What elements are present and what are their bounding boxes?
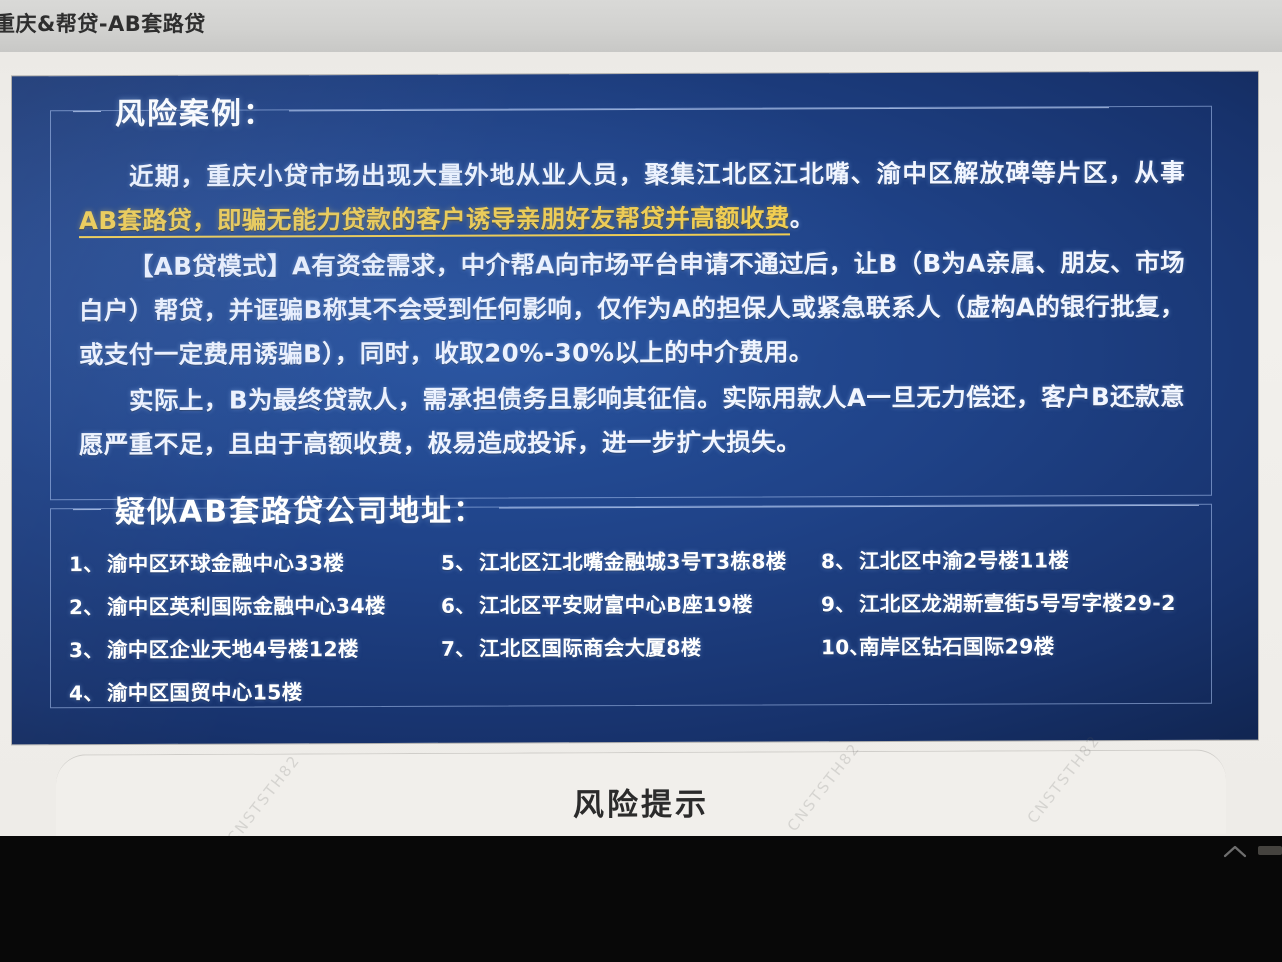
- list-item: 2、 渝中区英利国际金融中心34楼: [69, 589, 441, 620]
- list-item-label: 江北区中渝2号楼11楼: [859, 543, 1069, 574]
- paragraph-1-highlight: AB套路贷，即骗无能力贷款的客户诱导亲朋好友帮贷并高额收费: [79, 203, 790, 238]
- list-item: 3、 渝中区企业天地4号楼12楼: [69, 632, 441, 663]
- chevron-up-icon[interactable]: [1222, 842, 1248, 862]
- address-column-1: 1、 渝中区环球金融中心33楼 2、 渝中区英利国际金融中心34楼 3、 渝中区…: [69, 546, 441, 706]
- list-item: 4、 渝中区国贸中心15楼: [69, 675, 441, 706]
- app-chrome-bar: 重庆&帮贷-AB套路贷: [0, 0, 1282, 52]
- paragraph-1: 近期，重庆小贷市场出现大量外地从业人员，聚集江北区江北嘴、渝中区解放碑等片区，从…: [79, 151, 1185, 243]
- presentation-slide: 风险案例： 近期，重庆小贷市场出现大量外地从业人员，聚集江北区江北嘴、渝中区解放…: [12, 72, 1258, 745]
- heading-rule-left: [73, 111, 101, 112]
- list-item-number: 10、: [821, 631, 859, 660]
- list-item-number: 7、: [441, 633, 479, 662]
- risk-case-heading: 风险案例：: [73, 85, 1109, 133]
- list-item-label: 江北区江北嘴金融城3号T3栋8楼: [479, 544, 787, 575]
- list-item-number: 8、: [821, 545, 859, 574]
- list-item-label: 江北区国际商会大厦8楼: [479, 631, 702, 662]
- photographed-screen-frame: 重庆&帮贷-AB套路贷 风险案例： 近期，重庆小贷市场出现大量外地从业人员，聚集…: [0, 0, 1282, 962]
- heading-rule-right: [499, 504, 1199, 508]
- list-item: 7、 江北区国际商会大厦8楼: [441, 630, 821, 661]
- list-item-label: 渝中区企业天地4号楼12楼: [107, 632, 359, 663]
- addresses-heading: 疑似AB套路贷公司地址：: [73, 483, 1199, 531]
- address-column-3: 8、 江北区中渝2号楼11楼 9、 江北区龙湖新壹街5号写字楼29-2 10、 …: [821, 543, 1195, 703]
- list-item-number: 9、: [821, 588, 859, 617]
- window-title: 重庆&帮贷-AB套路贷: [0, 8, 206, 38]
- bezel-indicator-light: [1258, 846, 1282, 855]
- list-item-label: 渝中区英利国际金融中心34楼: [107, 589, 386, 620]
- heading-rule-left: [73, 509, 101, 510]
- suspected-addresses-panel: 疑似AB套路贷公司地址： 1、 渝中区环球金融中心33楼 2、 渝中区英利国际金…: [50, 504, 1212, 708]
- paragraph-2: 【AB贷模式】A有资金需求，中介帮A向市场平台申请不通过后，让B（B为A亲属、朋…: [79, 241, 1185, 377]
- list-item-number: 3、: [69, 634, 107, 663]
- list-item: 10、 南岸区钻石国际29楼: [821, 629, 1195, 660]
- list-item-number: 6、: [441, 590, 479, 619]
- list-item-number: 4、: [69, 677, 107, 706]
- list-item-number: 5、: [441, 547, 479, 576]
- address-list: 1、 渝中区环球金融中心33楼 2、 渝中区英利国际金融中心34楼 3、 渝中区…: [69, 543, 1195, 706]
- list-item: 9、 江北区龙湖新壹街5号写字楼29-2: [821, 586, 1195, 617]
- list-item: 5、 江北区江北嘴金融城3号T3栋8楼: [441, 544, 821, 575]
- heading-rule-right: [289, 107, 1109, 111]
- paragraph-1-run-3: 。: [790, 203, 815, 232]
- paragraph-2-text: 【AB贷模式】A有资金需求，中介帮A向市场平台申请不通过后，让B（B为A亲属、朋…: [79, 248, 1185, 369]
- list-item: 1、 渝中区环球金融中心33楼: [69, 546, 441, 577]
- list-item: 6、 江北区平安财富中心B座19楼: [441, 587, 821, 618]
- list-item-label: 江北区平安财富中心B座19楼: [479, 588, 753, 619]
- paragraph-1-run-1: 近期，重庆小贷市场出现大量外地从业人员，聚集江北区江北嘴、渝中区解放碑等片区，从…: [129, 158, 1185, 191]
- risk-case-heading-text: 风险案例：: [115, 88, 275, 133]
- risk-case-body: 近期，重庆小贷市场出现大量外地从业人员，聚集江北区江北嘴、渝中区解放碑等片区，从…: [79, 151, 1185, 469]
- paragraph-3: 实际上，B为最终贷款人，需承担债务且影响其征信。实际用款人A一旦无力偿还，客户B…: [79, 375, 1185, 467]
- list-item: 8、 江北区中渝2号楼11楼: [821, 543, 1195, 574]
- risk-case-panel: 风险案例： 近期，重庆小贷市场出现大量外地从业人员，聚集江北区江北嘴、渝中区解放…: [50, 106, 1212, 500]
- list-item-number: 2、: [69, 591, 107, 620]
- list-item-number: 1、: [69, 548, 107, 577]
- list-item-label: 渝中区环球金融中心33楼: [107, 546, 344, 577]
- monitor-bezel: [0, 836, 1282, 962]
- list-item-label: 渝中区国贸中心15楼: [107, 675, 303, 706]
- list-item-label: 南岸区钻石国际29楼: [859, 629, 1055, 660]
- paragraph-3-text: 实际上，B为最终贷款人，需承担债务且影响其征信。实际用款人A一旦无力偿还，客户B…: [79, 382, 1185, 459]
- address-column-2: 5、 江北区江北嘴金融城3号T3栋8楼 6、 江北区平安财富中心B座19楼 7、…: [441, 544, 821, 704]
- addresses-heading-text: 疑似AB套路贷公司地址：: [115, 486, 485, 531]
- list-item-label: 江北区龙湖新壹街5号写字楼29-2: [859, 586, 1176, 617]
